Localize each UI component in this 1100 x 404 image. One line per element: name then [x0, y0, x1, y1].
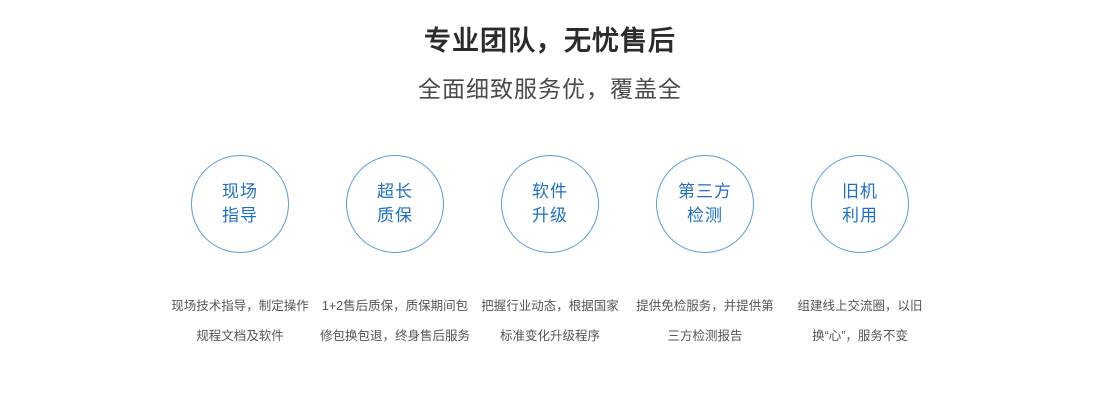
feature-item-onsite-guidance: 现场 指导 现场技术指导，制定操作 规程文档及软件	[163, 155, 318, 351]
caption-line2: 修包换包退，终身售后服务	[315, 321, 475, 351]
feature-caption: 1+2售后质保，质保期间包 修包换包退，终身售后服务	[315, 291, 475, 351]
feature-circle: 第三方 检测	[656, 155, 754, 253]
feature-circle: 旧机 利用	[811, 155, 909, 253]
page-subtitle: 全面细致服务优，覆盖全	[0, 74, 1100, 104]
circle-label-line1: 软件	[532, 180, 568, 204]
feature-caption: 提供免检服务，并提供第 三方检测报告	[625, 291, 785, 351]
caption-line1: 1+2售后质保，质保期间包	[315, 291, 475, 321]
caption-line2: 三方检测报告	[625, 321, 785, 351]
circle-label-line1: 第三方	[678, 180, 732, 204]
feature-circle: 软件 升级	[501, 155, 599, 253]
circle-label-line2: 质保	[377, 204, 413, 228]
feature-caption: 把握行业动态，根据国家 标准变化升级程序	[470, 291, 630, 351]
feature-circle: 超长 质保	[346, 155, 444, 253]
circle-label-line2: 升级	[532, 204, 568, 228]
caption-line2: 规程文档及软件	[160, 321, 320, 351]
caption-line1: 把握行业动态，根据国家	[470, 291, 630, 321]
section-header: 专业团队，无忧售后 全面细致服务优，覆盖全	[0, 24, 1100, 104]
feature-item-old-machine-reuse: 旧机 利用 组建线上交流圈，以旧 换“心”，服务不变	[783, 155, 938, 351]
caption-line1: 现场技术指导，制定操作	[160, 291, 320, 321]
service-promise-section: 专业团队，无忧售后 全面细致服务优，覆盖全 现场 指导 现场技术指导，制定操作 …	[0, 0, 1100, 404]
feature-item-software-upgrade: 软件 升级 把握行业动态，根据国家 标准变化升级程序	[473, 155, 628, 351]
feature-list: 现场 指导 现场技术指导，制定操作 规程文档及软件 超长 质保 1+2售后质保，…	[0, 155, 1100, 351]
caption-line2: 换“心”，服务不变	[780, 321, 940, 351]
circle-label-line2: 利用	[842, 204, 878, 228]
circle-label-line1: 旧机	[842, 180, 878, 204]
caption-line2: 标准变化升级程序	[470, 321, 630, 351]
caption-line1: 提供免检服务，并提供第	[625, 291, 785, 321]
circle-label-line1: 现场	[222, 180, 258, 204]
circle-label-line2: 检测	[687, 204, 723, 228]
page-title: 专业团队，无忧售后	[0, 24, 1100, 58]
feature-caption: 组建线上交流圈，以旧 换“心”，服务不变	[780, 291, 940, 351]
caption-line1: 组建线上交流圈，以旧	[780, 291, 940, 321]
feature-item-extended-warranty: 超长 质保 1+2售后质保，质保期间包 修包换包退，终身售后服务	[318, 155, 473, 351]
feature-caption: 现场技术指导，制定操作 规程文档及软件	[160, 291, 320, 351]
feature-circle: 现场 指导	[191, 155, 289, 253]
feature-item-third-party-inspection: 第三方 检测 提供免检服务，并提供第 三方检测报告	[628, 155, 783, 351]
circle-label-line1: 超长	[377, 180, 413, 204]
circle-label-line2: 指导	[222, 204, 258, 228]
